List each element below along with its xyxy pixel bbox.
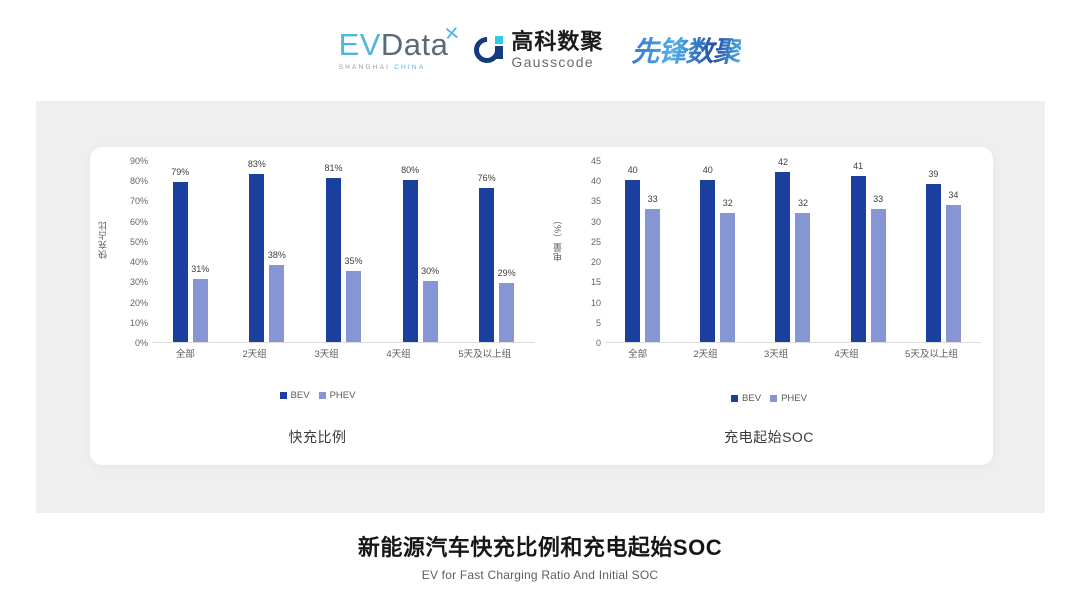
x-tick-label: 2天组 xyxy=(693,346,717,360)
x-tick-label: 全部 xyxy=(628,346,647,360)
legend-swatch-bev xyxy=(731,395,738,402)
bar-phev[interactable]: 31% xyxy=(193,279,208,342)
legend-label-bev: BEV xyxy=(742,393,761,404)
gausscode-text: 高科数聚 Gausscode xyxy=(511,31,603,69)
x-tick-label: 3天组 xyxy=(314,346,338,360)
x-tick-label: 全部 xyxy=(176,346,195,360)
y-tick-label: 35 xyxy=(567,196,601,206)
x-axis-labels-right: 全部2天组3天组4天组5天及以上组 xyxy=(605,346,981,362)
y-tick-label: 10 xyxy=(567,298,601,308)
bar-value-label: 29% xyxy=(498,268,516,278)
bar-group: 4232 xyxy=(775,161,810,342)
bar-value-label: 40 xyxy=(628,165,638,175)
bar-bev[interactable]: 81% xyxy=(326,178,341,342)
legend-item-bev[interactable]: BEV xyxy=(731,393,761,404)
y-axis-title-left: 快充占比 xyxy=(96,221,109,259)
bar-value-label: 33 xyxy=(648,194,658,204)
legend-item-phev[interactable]: PHEV xyxy=(319,390,356,401)
charts-card: 快充占比 90%80%70%60%50%40%30%20%10%0% 79%31… xyxy=(90,147,993,465)
evdata-tagline-china: CHINA xyxy=(394,64,425,71)
bar-bev[interactable]: 83% xyxy=(249,174,264,342)
y-tick-label: 45 xyxy=(567,156,601,166)
legend-label-phev: PHEV xyxy=(781,393,807,404)
gausscode-cyan-square xyxy=(495,36,503,44)
xianfeng-logo: 先锋数聚 xyxy=(629,30,741,70)
evdata-wordmark: EVData xyxy=(339,29,449,60)
bar-bev[interactable]: 79% xyxy=(173,182,188,342)
y-tick-label: 90% xyxy=(114,156,148,166)
y-tick-label: 30% xyxy=(114,277,148,287)
bar-value-label: 41 xyxy=(853,161,863,171)
slide-root: EVData ✕ SHANGHAI CHINA 高科数聚 Gausscode 先… xyxy=(0,0,1080,608)
y-tick-label: 0% xyxy=(114,338,148,348)
y-axis-right: 454035302520151050 xyxy=(567,161,601,343)
evdata-x-icon: ✕ xyxy=(443,22,461,47)
y-tick-label: 40 xyxy=(567,176,601,186)
bar-group: 80%30% xyxy=(403,161,438,342)
legend-swatch-phev xyxy=(770,395,777,402)
bar-value-label: 32 xyxy=(723,198,733,208)
evdata-data-text: Data xyxy=(381,27,448,62)
plot-area-left: 79%31%83%38%81%35%80%30%76%29% xyxy=(152,161,535,343)
y-tick-label: 10% xyxy=(114,318,148,328)
evdata-tagline-shanghai: SHANGHAI xyxy=(339,64,395,71)
chart-initial-soc: 电量（%） 454035302520151050 403340324232413… xyxy=(545,147,993,465)
legend-left: BEVPHEV xyxy=(90,390,545,401)
y-tick-label: 40% xyxy=(114,257,148,267)
gausscode-en-name: Gausscode xyxy=(511,55,603,69)
chart-fast-charging-ratio: 快充占比 90%80%70%60%50%40%30%20%10%0% 79%31… xyxy=(90,147,545,465)
bar-value-label: 33 xyxy=(873,194,883,204)
bar-group: 79%31% xyxy=(173,161,208,342)
bar-phev[interactable]: 38% xyxy=(269,265,284,342)
x-tick-label: 4天组 xyxy=(834,346,858,360)
gausscode-logo: 高科数聚 Gausscode xyxy=(474,31,603,69)
evdata-tagline: SHANGHAI CHINA xyxy=(339,64,426,71)
y-axis-left: 90%80%70%60%50%40%30%20%10%0% xyxy=(114,161,148,343)
gausscode-mark-icon xyxy=(474,35,504,65)
bar-value-label: 39 xyxy=(928,169,938,179)
y-tick-label: 25 xyxy=(567,237,601,247)
page-title: 新能源汽车快充比例和充电起始SOC xyxy=(0,530,1080,562)
x-axis-labels-left: 全部2天组3天组4天组5天及以上组 xyxy=(152,346,535,362)
evdata-ev-text: EV xyxy=(339,27,381,62)
bar-group: 4133 xyxy=(851,161,886,342)
legend-label-phev: PHEV xyxy=(330,390,356,401)
caption-right: 充电起始SOC xyxy=(545,427,993,447)
bar-phev[interactable]: 34 xyxy=(946,205,961,343)
bar-phev[interactable]: 30% xyxy=(423,281,438,342)
y-axis-title-right: 电量（%） xyxy=(551,215,564,262)
bar-group: 81%35% xyxy=(326,161,361,342)
bar-phev[interactable]: 32 xyxy=(720,213,735,342)
evdata-logo: EVData ✕ SHANGHAI CHINA xyxy=(339,29,449,71)
charts-row: 快充占比 90%80%70%60%50%40%30%20%10%0% 79%31… xyxy=(90,147,993,465)
bar-phev[interactable]: 33 xyxy=(871,209,886,342)
legend-item-bev[interactable]: BEV xyxy=(280,390,310,401)
bar-bev[interactable]: 80% xyxy=(403,180,418,342)
bar-bev[interactable]: 39 xyxy=(926,184,941,342)
x-tick-label: 5天及以上组 xyxy=(458,346,511,360)
x-tick-label: 3天组 xyxy=(764,346,788,360)
legend-label-bev: BEV xyxy=(291,390,310,401)
y-tick-label: 80% xyxy=(114,176,148,186)
x-tick-label: 4天组 xyxy=(386,346,410,360)
bar-group: 83%38% xyxy=(249,161,284,342)
bar-phev[interactable]: 33 xyxy=(645,209,660,342)
bar-value-label: 30% xyxy=(421,266,439,276)
x-tick-label: 5天及以上组 xyxy=(905,346,958,360)
bar-value-label: 80% xyxy=(401,165,419,175)
bar-group: 76%29% xyxy=(479,161,514,342)
x-tick-label: 2天组 xyxy=(243,346,267,360)
plot-wrap-right: 电量（%） 454035302520151050 403340324232413… xyxy=(545,161,993,373)
bar-value-label: 31% xyxy=(191,264,209,274)
bar-phev[interactable]: 29% xyxy=(499,283,514,342)
bar-value-label: 34 xyxy=(948,190,958,200)
y-tick-label: 30 xyxy=(567,217,601,227)
y-tick-label: 0 xyxy=(567,338,601,348)
legend-swatch-phev xyxy=(319,392,326,399)
y-tick-label: 15 xyxy=(567,277,601,287)
y-tick-label: 5 xyxy=(567,318,601,328)
bar-group: 3934 xyxy=(926,161,961,342)
bottom-titles: 新能源汽车快充比例和充电起始SOC EV for Fast Charging R… xyxy=(0,530,1080,582)
bar-group: 4033 xyxy=(625,161,660,342)
bar-value-label: 42 xyxy=(778,157,788,167)
logo-bar: EVData ✕ SHANGHAI CHINA 高科数聚 Gausscode 先… xyxy=(0,24,1080,76)
bar-value-label: 35% xyxy=(344,256,362,266)
y-tick-label: 20 xyxy=(567,257,601,267)
legend-right: BEVPHEV xyxy=(545,393,993,404)
gausscode-navy-square xyxy=(495,46,503,59)
bar-value-label: 79% xyxy=(171,167,189,177)
bar-bev[interactable]: 76% xyxy=(479,188,494,342)
y-tick-label: 70% xyxy=(114,196,148,206)
page-subtitle: EV for Fast Charging Ratio And Initial S… xyxy=(0,568,1080,582)
bar-value-label: 38% xyxy=(268,250,286,260)
bar-value-label: 40 xyxy=(703,165,713,175)
bar-value-label: 32 xyxy=(798,198,808,208)
bar-value-label: 81% xyxy=(324,163,342,173)
y-tick-label: 50% xyxy=(114,237,148,247)
caption-left: 快充比例 xyxy=(90,427,545,447)
bar-bev[interactable]: 40 xyxy=(625,180,640,342)
bar-value-label: 76% xyxy=(478,173,496,183)
y-tick-label: 20% xyxy=(114,298,148,308)
y-tick-label: 60% xyxy=(114,217,148,227)
bar-bev[interactable]: 42 xyxy=(775,172,790,342)
bar-value-label: 83% xyxy=(248,159,266,169)
bar-phev[interactable]: 32 xyxy=(795,213,810,342)
gausscode-cn-name: 高科数聚 xyxy=(511,31,603,53)
bar-bev[interactable]: 41 xyxy=(851,176,866,342)
legend-item-phev[interactable]: PHEV xyxy=(770,393,807,404)
legend-swatch-bev xyxy=(280,392,287,399)
plot-wrap-left: 快充占比 90%80%70%60%50%40%30%20%10%0% 79%31… xyxy=(90,161,545,373)
bar-phev[interactable]: 35% xyxy=(346,271,361,342)
plot-area-right: 40334032423241333934 xyxy=(605,161,981,343)
bar-bev[interactable]: 40 xyxy=(700,180,715,342)
bar-group: 4032 xyxy=(700,161,735,342)
